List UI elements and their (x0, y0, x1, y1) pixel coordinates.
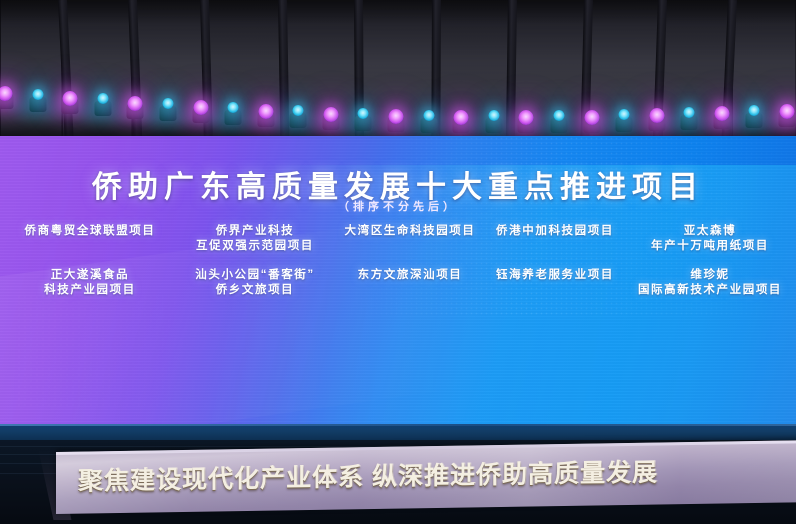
project-line: 维珍妮 (630, 268, 790, 283)
frame-highlight (0, 424, 796, 426)
project-item: 维珍妮国际高新技术产业园项目 (630, 268, 790, 298)
project-item: 侨商粤贸全球联盟项目 (10, 224, 170, 239)
project-line: 年产十万吨用纸项目 (630, 239, 790, 254)
screen-subtitle: （排序不分先后） (0, 198, 796, 214)
project-item: 侨港中加科技园项目 (490, 224, 620, 239)
project-line: 国际高新技术产业园项目 (630, 283, 790, 298)
project-item: 钰海养老服务业项目 (490, 268, 620, 283)
hall-background (0, 0, 796, 150)
screen-content: 侨助广东高质量发展十大重点推进项目 （排序不分先后） 侨商粤贸全球联盟项目 侨界… (0, 136, 796, 428)
stage-scene: 侨助广东高质量发展十大重点推进项目 （排序不分先后） 侨商粤贸全球联盟项目 侨界… (0, 0, 796, 524)
project-line: 汕头小公园“番客街” (180, 268, 330, 283)
project-row-1: 侨商粤贸全球联盟项目 侨界产业科技互促双强示范园项目 大湾区生命科技园项目 侨港… (10, 224, 790, 266)
project-line: 侨港中加科技园项目 (490, 224, 620, 239)
project-item: 正大遂溪食品科技产业园项目 (10, 268, 170, 298)
project-item: 亚太森博年产十万吨用纸项目 (630, 224, 790, 254)
stage-banner: 聚焦建设现代化产业体系 纵深推进侨助高质量发展 (56, 440, 796, 514)
project-item: 侨界产业科技互促双强示范园项目 (180, 224, 330, 254)
project-grid: 侨商粤贸全球联盟项目 侨界产业科技互促双强示范园项目 大湾区生命科技园项目 侨港… (10, 224, 790, 310)
project-line: 东方文旅深汕项目 (340, 268, 480, 283)
project-line: 侨界产业科技 (180, 224, 330, 239)
project-row-2: 正大遂溪食品科技产业园项目 汕头小公园“番客街”侨乡文旅项目 东方文旅深汕项目 … (10, 268, 790, 310)
project-line: 侨商粤贸全球联盟项目 (10, 224, 170, 239)
project-line: 侨乡文旅项目 (180, 283, 330, 298)
project-line: 亚太森博 (630, 224, 790, 239)
project-line: 钰海养老服务业项目 (490, 268, 620, 283)
project-item: 东方文旅深汕项目 (340, 268, 480, 283)
project-line: 科技产业园项目 (10, 283, 170, 298)
led-screen: 侨助广东高质量发展十大重点推进项目 （排序不分先后） 侨商粤贸全球联盟项目 侨界… (0, 136, 796, 428)
project-item: 大湾区生命科技园项目 (340, 224, 480, 239)
project-line: 大湾区生命科技园项目 (340, 224, 480, 239)
project-line: 正大遂溪食品 (10, 268, 170, 283)
project-item: 汕头小公园“番客街”侨乡文旅项目 (180, 268, 330, 298)
project-line: 互促双强示范园项目 (180, 239, 330, 254)
